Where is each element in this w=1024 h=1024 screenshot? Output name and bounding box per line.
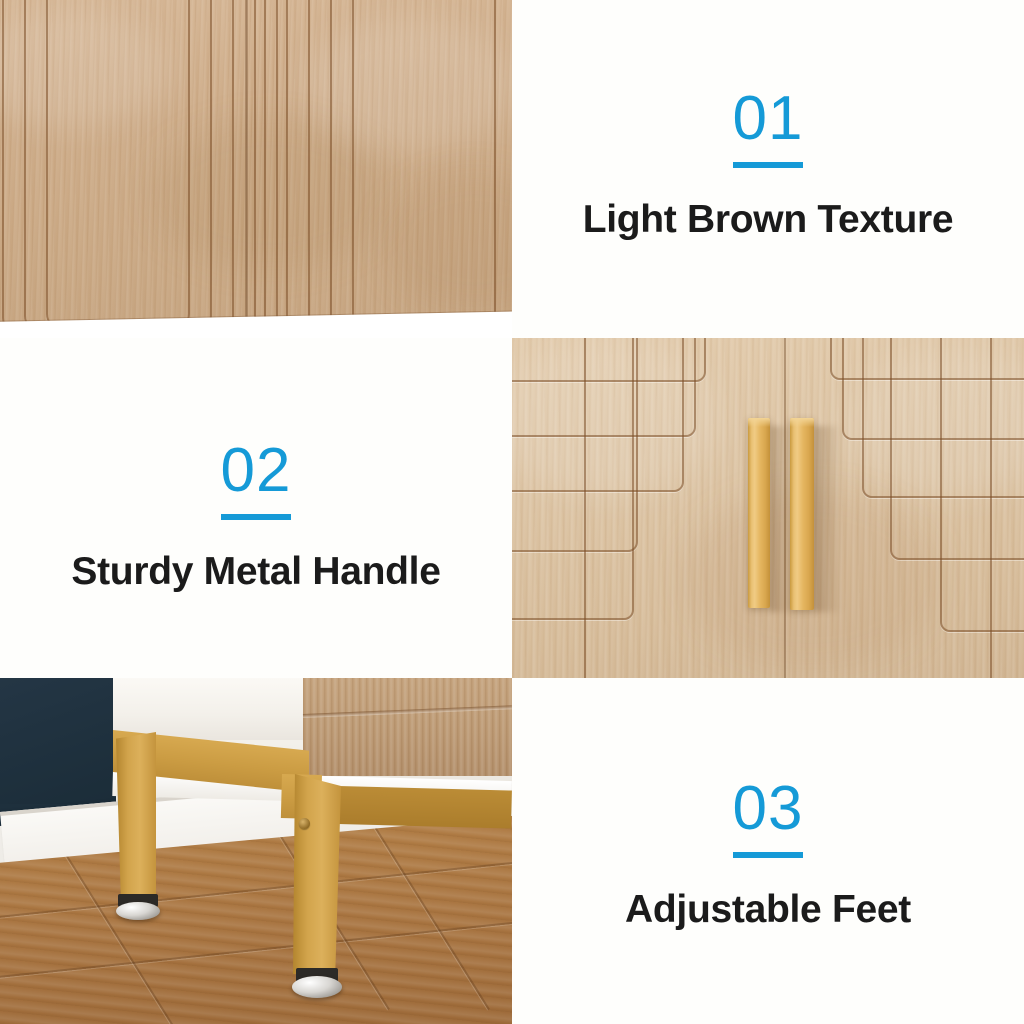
door-groove xyxy=(46,0,190,330)
door-groove xyxy=(862,338,1024,498)
door-groove xyxy=(24,0,212,332)
grain-cloud xyxy=(150,120,390,270)
feature-02-number: 02 xyxy=(221,440,292,520)
cabinet-leg-left xyxy=(116,732,156,898)
gold-handle-right[interactable] xyxy=(790,418,814,610)
cabinet-doors-wood-texture-photo xyxy=(0,0,512,338)
handle-shadow xyxy=(814,426,842,612)
door-groove xyxy=(330,0,512,332)
wall-navy-panel xyxy=(0,678,116,812)
cabinet-wood-door xyxy=(303,678,512,776)
cabinet-body-front xyxy=(113,678,303,740)
gold-leg-adjustable-feet-photo xyxy=(0,678,512,1024)
door-groove xyxy=(990,338,1024,678)
door-groove xyxy=(0,0,278,338)
door-groove xyxy=(264,0,512,338)
feature-03-number: 03 xyxy=(733,778,804,858)
grain-cloud xyxy=(512,338,722,498)
door-groove xyxy=(512,338,638,552)
adjustable-foot-left[interactable] xyxy=(116,902,160,920)
product-feature-infographic: 01 Light Brown Texture 02 Sturdy Metal H… xyxy=(0,0,1024,1024)
door-groove xyxy=(512,338,684,492)
grain-cloud xyxy=(380,170,512,310)
door-groove xyxy=(512,338,706,382)
door-groove xyxy=(286,0,512,336)
feature-01-number: 01 xyxy=(733,88,804,168)
feet-photo-surface xyxy=(0,678,512,1024)
handle-photo-surface xyxy=(512,338,1024,678)
door-groove xyxy=(512,338,634,620)
feature-03-text-panel: 03 Adjustable Feet xyxy=(512,678,1024,1024)
feature-01-text-panel: 01 Light Brown Texture xyxy=(512,0,1024,338)
door-groove xyxy=(0,0,256,336)
adjustable-foot-right[interactable] xyxy=(292,976,342,998)
door-groove xyxy=(842,338,1024,440)
gold-bar-handle-photo xyxy=(512,338,1024,678)
feature-03-title: Adjustable Feet xyxy=(512,889,1024,932)
door-groove xyxy=(830,338,1024,380)
wood-texture-surface xyxy=(0,0,512,338)
feature-01-title: Light Brown Texture xyxy=(512,199,1024,242)
grain-cloud xyxy=(0,10,170,130)
door-groove xyxy=(512,338,696,437)
door-groove xyxy=(2,0,234,334)
grain-cloud xyxy=(300,20,512,150)
gold-handle-left[interactable] xyxy=(748,418,770,608)
cabinet-leg-right xyxy=(293,774,341,974)
door-seam xyxy=(245,0,248,338)
feature-02-title: Sturdy Metal Handle xyxy=(0,551,512,594)
floor-plank-line xyxy=(0,855,512,922)
feature-01-block: 01 Light Brown Texture xyxy=(512,88,1024,242)
door-groove xyxy=(890,338,1024,560)
feature-02-block: 02 Sturdy Metal Handle xyxy=(0,440,512,594)
feature-02-text-panel: 02 Sturdy Metal Handle xyxy=(0,338,512,678)
grain-cloud xyxy=(842,348,1024,498)
door-groove xyxy=(512,338,586,678)
door-groove xyxy=(940,338,1024,632)
feature-03-block: 03 Adjustable Feet xyxy=(512,778,1024,932)
leg-screw xyxy=(299,818,310,829)
door-groove xyxy=(352,0,496,330)
door-groove xyxy=(308,0,512,334)
